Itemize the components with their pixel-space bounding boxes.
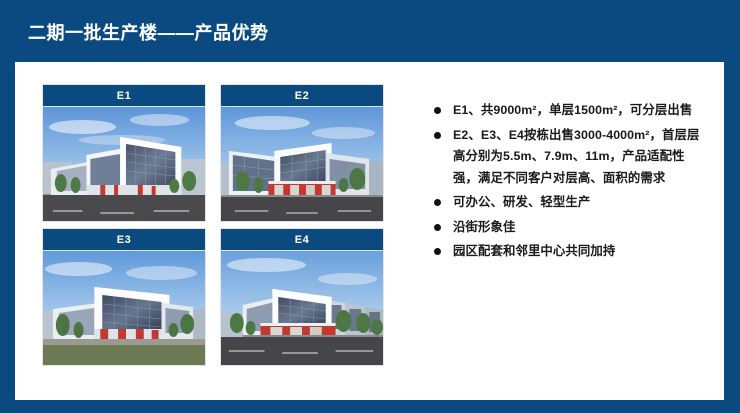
- product-advantages-list: E1、共9000m²，单层1500m²，可分层出售 E2、E3、E4按栋出售30…: [427, 100, 707, 266]
- photo-image-e4: [220, 251, 384, 366]
- building-render-e2: [221, 107, 383, 221]
- list-item: 园区配套和邻里中心共同加持: [427, 241, 707, 263]
- list-item-text: E2、E3、E4按栋出售3000-4000m²，首层层高分别为5.5m、7.9m…: [453, 128, 699, 185]
- bullet-icon: [434, 199, 441, 206]
- bullet-icon: [434, 132, 441, 139]
- list-item-text: 园区配套和邻里中心共同加持: [453, 244, 615, 258]
- list-item-text: 沿街形象佳: [453, 220, 515, 234]
- photo-label-e2: E2: [220, 84, 384, 107]
- photo-image-e2: [220, 107, 384, 222]
- list-item: E1、共9000m²，单层1500m²，可分层出售: [427, 100, 707, 122]
- content-card: E1: [15, 62, 724, 400]
- photo-card-e4[interactable]: E4: [220, 228, 384, 366]
- bullet-icon: [434, 107, 441, 114]
- page-title: 二期一批生产楼——产品优势: [28, 19, 269, 45]
- slide-root: 二期一批生产楼——产品优势 E1: [0, 0, 740, 413]
- photo-card-e3[interactable]: E3: [42, 228, 206, 366]
- photo-label-e4: E4: [220, 228, 384, 251]
- photo-card-e1[interactable]: E1: [42, 84, 206, 222]
- list-item-text: 可办公、研发、轻型生产: [453, 195, 590, 209]
- list-item: 沿街形象佳: [427, 217, 707, 239]
- building-render-e3: [43, 251, 205, 365]
- bullet-icon: [434, 224, 441, 231]
- list-item: 可办公、研发、轻型生产: [427, 192, 707, 214]
- photo-image-e1: [42, 107, 206, 222]
- photo-label-e1: E1: [42, 84, 206, 107]
- photo-label-e3: E3: [42, 228, 206, 251]
- photo-card-e2[interactable]: E2: [220, 84, 384, 222]
- photo-grid: E1: [42, 84, 406, 382]
- bullet-icon: [434, 248, 441, 255]
- photo-image-e3: [42, 251, 206, 366]
- list-item: E2、E3、E4按栋出售3000-4000m²，首层层高分别为5.5m、7.9m…: [427, 125, 707, 190]
- building-render-e1: [43, 107, 205, 221]
- building-render-e4: [221, 251, 383, 365]
- list-item-text: E1、共9000m²，单层1500m²，可分层出售: [453, 103, 692, 117]
